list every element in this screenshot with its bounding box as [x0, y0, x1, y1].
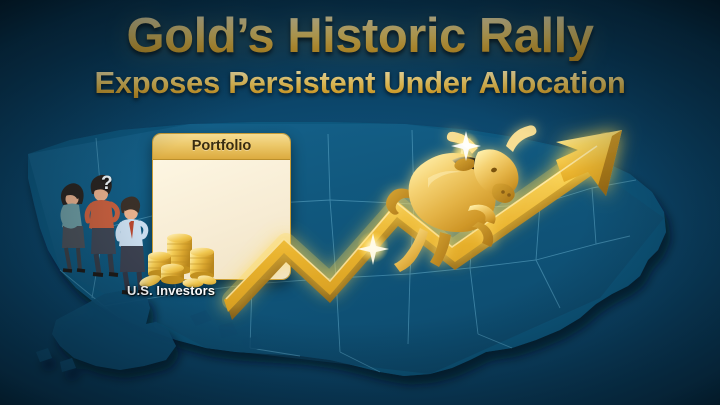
promo-graphic-canvas: ? Portfolio: [0, 0, 720, 405]
page-title: Gold’s Historic Rally: [0, 12, 720, 61]
title-block: Gold’s Historic Rally Exposes Persistent…: [0, 0, 720, 98]
page-subtitle: Exposes Persistent Under Allocation: [0, 67, 720, 98]
bull-front-leg-2: [472, 222, 493, 247]
bull-hind-leg-2: [430, 232, 451, 267]
bull-horn-right: [506, 125, 536, 152]
bull-hind-leg-1: [394, 228, 428, 272]
